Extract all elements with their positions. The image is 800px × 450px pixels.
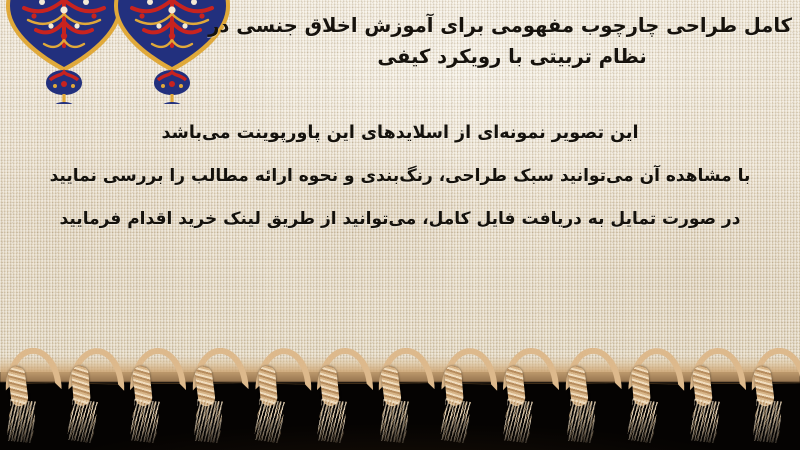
slide-body-line-3: در صورت تمایل به دریافت فایل کامل، می‌تو… [0, 198, 800, 241]
slide-title: کامل طراحی چارچوب مفهومی برای آموزش اخلا… [232, 10, 792, 72]
slide-title-line-2: نظام تربیتی با رویکرد کیفی [232, 41, 792, 72]
carpet-selvedge-edge [0, 356, 800, 382]
slide-body-text: این تصویر نمونه‌ای از اسلایدهای این پاور… [0, 112, 800, 241]
slide-canvas: کامل طراحی چارچوب مفهومی برای آموزش اخلا… [0, 0, 800, 450]
slide-body-line-1: این تصویر نمونه‌ای از اسلایدهای این پاور… [0, 112, 800, 155]
slide-title-line-1: کامل طراحی چارچوب مفهومی برای آموزش اخلا… [232, 10, 792, 41]
slide-body-line-2: با مشاهده آن می‌توانید سبک طراحی، رنگ‌بن… [0, 155, 800, 198]
slide-text-layer: کامل طراحی چارچوب مفهومی برای آموزش اخلا… [0, 0, 800, 378]
dark-ground [0, 372, 800, 450]
